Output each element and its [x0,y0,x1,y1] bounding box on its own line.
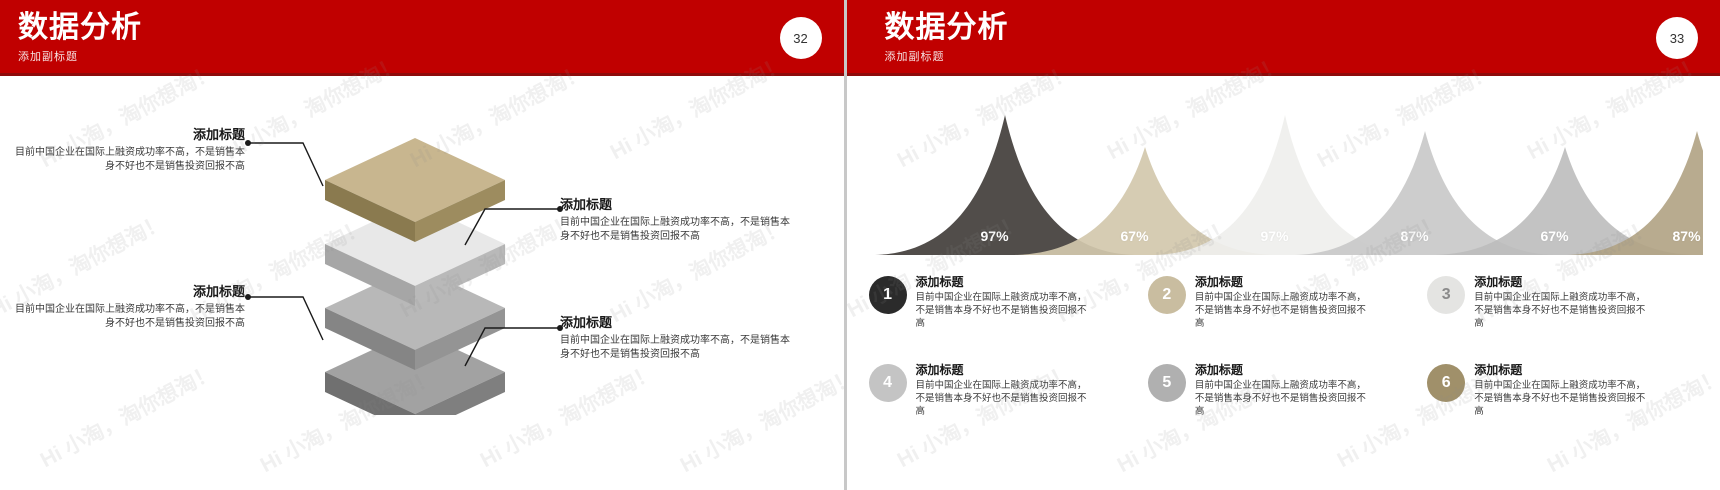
item-body: 目前中国企业在国际上融资成功率不高，不是销售本身不好也不是销售投资回报不高 [1474,291,1646,330]
header-rule [0,73,844,76]
item-body: 目前中国企业在国际上融资成功率不高，不是销售本身不好也不是销售投资回报不高 [916,379,1088,418]
callout-4: 添加标题 目前中国企业在国际上融资成功率不高，不是销售本身不好也不是销售投资回报… [560,314,795,362]
chart-peak-label-4: 87% [1401,228,1429,244]
list-item[interactable]: 4 添加标题 目前中国企业在国际上融资成功率不高，不是销售本身不好也不是销售投资… [869,360,1138,440]
leader-line-1 [245,130,375,200]
watermark-text: Hi 小淘，淘你想淘！ [674,361,843,479]
item-number-badge: 6 [1427,364,1465,402]
leader-line-3 [245,287,375,357]
header-rule [847,73,1720,76]
callout-title: 添加标题 [10,283,245,301]
item-title: 添加标题 [916,274,1088,290]
page-title: 数据分析 [885,10,1720,46]
page-number-badge: 32 [780,17,822,59]
callout-2: 添加标题 目前中国企业在国际上融资成功率不高，不是销售本身不好也不是销售投资回报… [560,196,795,244]
item-number-badge: 3 [1427,276,1465,314]
callout-1: 添加标题 目前中国企业在国际上融资成功率不高，不是销售本身不好也不是销售投资回报… [10,126,245,174]
item-text: 添加标题 目前中国企业在国际上融资成功率不高，不是销售本身不好也不是销售投资回报… [916,272,1088,330]
item-title: 添加标题 [1195,362,1367,378]
callout-title: 添加标题 [10,126,245,144]
chart-peak-label-3: 97% [1261,228,1289,244]
slide-deck: 数据分析 添加副标题 32 Hi 小淘，淘你想淘！ Hi 小淘，淘你想淘！ Hi… [0,0,1720,490]
item-text: 添加标题 目前中国企业在国际上融资成功率不高，不是销售本身不好也不是销售投资回报… [1474,360,1646,418]
item-title: 添加标题 [1195,274,1367,290]
item-text: 添加标题 目前中国企业在国际上融资成功率不高，不是销售本身不好也不是销售投资回报… [916,360,1088,418]
item-title: 添加标题 [916,362,1088,378]
item-text: 添加标题 目前中国企业在国际上融资成功率不高，不是销售本身不好也不是销售投资回报… [1474,272,1646,330]
page-subtitle: 添加副标题 [18,49,844,65]
slide-right: 数据分析 添加副标题 33 Hi 小淘，淘你想淘！ Hi 小淘，淘你想淘！ Hi… [847,0,1720,490]
item-number-badge: 2 [1148,276,1186,314]
chart-peak-label-1: 97% [981,228,1009,244]
item-number-badge: 5 [1148,364,1186,402]
callout-title: 添加标题 [560,314,795,332]
chart-peak-label-2: 67% [1121,228,1149,244]
numbered-items-grid: 1 添加标题 目前中国企业在国际上融资成功率不高，不是销售本身不好也不是销售投资… [869,272,1697,440]
slide-left-header: 数据分析 添加副标题 32 [0,0,844,76]
callout-body: 目前中国企业在国际上融资成功率不高，不是销售本身不好也不是销售投资回报不高 [10,303,245,331]
leader-line-2 [455,200,565,270]
list-item[interactable]: 2 添加标题 目前中国企业在国际上融资成功率不高，不是销售本身不好也不是销售投资… [1148,272,1417,352]
list-item[interactable]: 6 添加标题 目前中国企业在国际上融资成功率不高，不是销售本身不好也不是销售投资… [1427,360,1696,440]
callout-body: 目前中国企业在国际上融资成功率不高，不是销售本身不好也不是销售投资回报不高 [10,146,245,174]
item-number-badge: 4 [869,364,907,402]
callout-title: 添加标题 [560,196,795,214]
page-title: 数据分析 [18,10,844,46]
chart-peak-label-5: 67% [1541,228,1569,244]
page-number-badge: 33 [1656,17,1698,59]
item-body: 目前中国企业在国际上融资成功率不高，不是销售本身不好也不是销售投资回报不高 [1474,379,1646,418]
slide-right-header: 数据分析 添加副标题 33 [847,0,1720,76]
item-text: 添加标题 目前中国企业在国际上融资成功率不高，不是销售本身不好也不是销售投资回报… [1195,272,1367,330]
item-number-badge: 1 [869,276,907,314]
item-title: 添加标题 [1474,362,1646,378]
slide-left: 数据分析 添加副标题 32 Hi 小淘，淘你想淘！ Hi 小淘，淘你想淘！ Hi… [0,0,844,490]
callout-3: 添加标题 目前中国企业在国际上融资成功率不高，不是销售本身不好也不是销售投资回报… [10,283,245,331]
callout-body: 目前中国企业在国际上融资成功率不高，不是销售本身不好也不是销售投资回报不高 [560,334,795,362]
item-text: 添加标题 目前中国企业在国际上融资成功率不高，不是销售本身不好也不是销售投资回报… [1195,360,1367,418]
item-body: 目前中国企业在国际上融资成功率不高，不是销售本身不好也不是销售投资回报不高 [916,291,1088,330]
list-item[interactable]: 1 添加标题 目前中国企业在国际上融资成功率不高，不是销售本身不好也不是销售投资… [869,272,1138,352]
item-title: 添加标题 [1474,274,1646,290]
item-body: 目前中国企业在国际上融资成功率不高，不是销售本身不好也不是销售投资回报不高 [1195,379,1367,418]
chart-peak-label-6: 87% [1673,228,1701,244]
leader-line-4 [455,318,565,388]
callout-body: 目前中国企业在国际上融资成功率不高，不是销售本身不好也不是销售投资回报不高 [560,216,795,244]
watermark-text: Hi 小淘，淘你想淘！ [34,356,220,474]
page-subtitle: 添加副标题 [885,49,1720,65]
item-body: 目前中国企业在国际上融资成功率不高，不是销售本身不好也不是销售投资回报不高 [1195,291,1367,330]
list-item[interactable]: 3 添加标题 目前中国企业在国际上融资成功率不高，不是销售本身不好也不是销售投资… [1427,272,1696,352]
list-item[interactable]: 5 添加标题 目前中国企业在国际上融资成功率不高，不是销售本身不好也不是销售投资… [1148,360,1417,440]
